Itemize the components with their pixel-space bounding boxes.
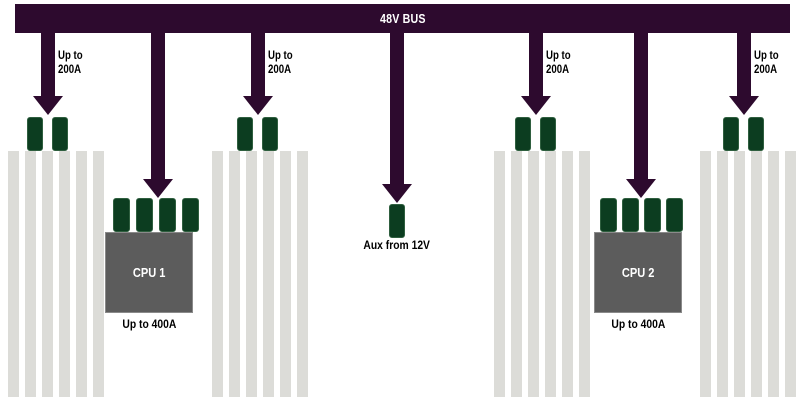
arrow-stem — [41, 33, 55, 97]
power-connector — [27, 117, 43, 151]
power-connector — [622, 198, 639, 232]
power-connector — [262, 117, 278, 151]
power-connector — [666, 198, 683, 232]
memory-stripe — [246, 151, 257, 397]
arrow-head — [626, 179, 656, 198]
power-connector — [515, 117, 531, 151]
memory-stripe — [734, 151, 745, 397]
branch-current-label: Up to 200A — [268, 50, 293, 77]
memory-stripe — [42, 151, 53, 397]
power-connector — [237, 117, 253, 151]
memory-stripe — [8, 151, 19, 397]
arrow-head — [382, 184, 412, 203]
arrow-stem — [151, 33, 165, 180]
arrow-head — [33, 96, 63, 115]
memory-stripe — [59, 151, 70, 397]
cpu-current-label: Up to 400A — [105, 317, 193, 331]
branch-current-label: Up to 200A — [58, 50, 83, 77]
memory-stripe — [263, 151, 274, 397]
power-connector — [600, 198, 617, 232]
cpu-label: CPU 1 — [133, 265, 166, 280]
cpu-block: CPU 1 — [105, 232, 193, 313]
power-connector — [748, 117, 764, 151]
memory-stripe — [785, 151, 796, 397]
arrow-head — [729, 96, 759, 115]
memory-stripe — [93, 151, 104, 397]
cpu-block: CPU 2 — [594, 232, 682, 313]
memory-stripe — [717, 151, 728, 397]
arrow-stem — [390, 33, 404, 185]
power-connector — [540, 117, 556, 151]
memory-stripe — [229, 151, 240, 397]
power-connector — [136, 198, 153, 232]
branch-current-label: Up to 200A — [754, 50, 779, 77]
bus-bar: 48V BUS — [15, 4, 790, 33]
power-connector — [723, 117, 739, 151]
cpu-label: CPU 2 — [622, 265, 655, 280]
power-connector — [113, 198, 130, 232]
memory-stripe — [212, 151, 223, 397]
memory-stripe — [545, 151, 556, 397]
memory-stripe — [297, 151, 308, 397]
arrow-stem — [737, 33, 751, 97]
cpu-current-label: Up to 400A — [594, 317, 682, 331]
arrow-head — [143, 179, 173, 198]
memory-stripe — [768, 151, 779, 397]
memory-stripe — [76, 151, 87, 397]
memory-stripe — [511, 151, 522, 397]
arrow-head — [243, 96, 273, 115]
power-connector — [182, 198, 199, 232]
memory-stripe — [751, 151, 762, 397]
memory-stripe — [280, 151, 291, 397]
bus-bar-label: 48V BUS — [380, 11, 426, 26]
arrow-stem — [251, 33, 265, 97]
power-connector — [52, 117, 68, 151]
memory-stripe — [494, 151, 505, 397]
memory-stripe — [700, 151, 711, 397]
power-connector — [159, 198, 176, 232]
memory-stripe — [579, 151, 590, 397]
power-distribution-diagram: 48V BUS Up to 200ACPU 1Up to 400AUp to 2… — [0, 0, 800, 400]
aux-source-label: Aux from 12V — [337, 238, 457, 252]
power-connector — [389, 204, 405, 238]
memory-stripe — [562, 151, 573, 397]
arrow-head — [521, 96, 551, 115]
branch-current-label: Up to 200A — [546, 50, 571, 77]
arrow-stem — [634, 33, 648, 180]
power-connector — [644, 198, 661, 232]
memory-stripe — [528, 151, 539, 397]
memory-stripe — [25, 151, 36, 397]
arrow-stem — [529, 33, 543, 97]
